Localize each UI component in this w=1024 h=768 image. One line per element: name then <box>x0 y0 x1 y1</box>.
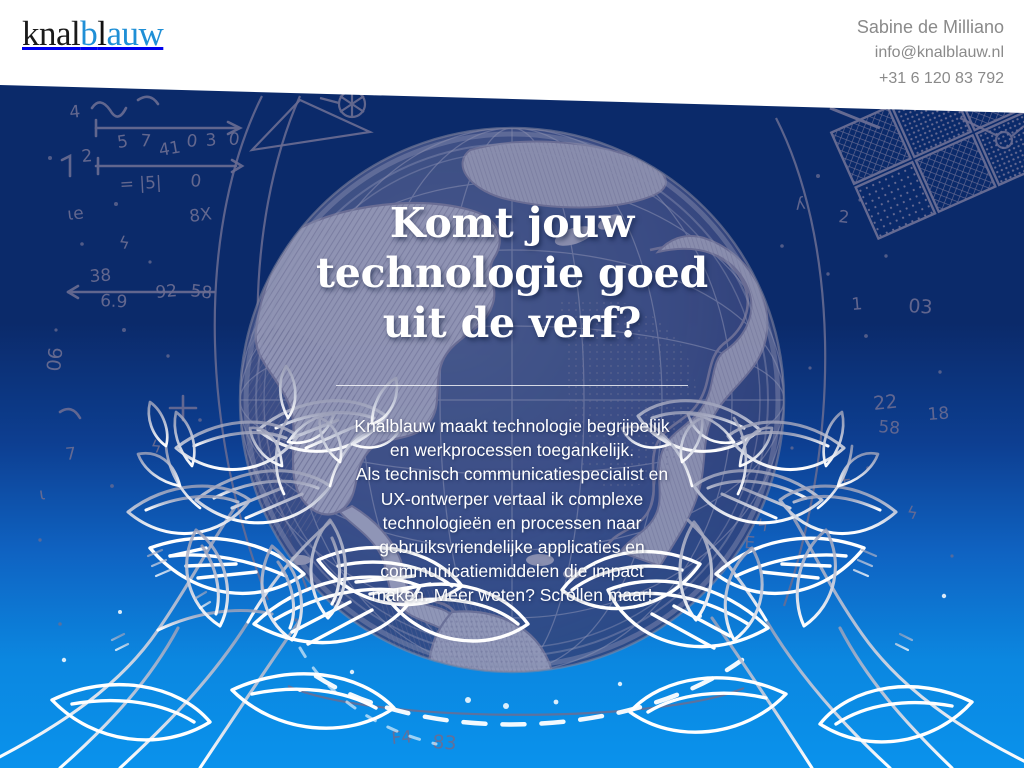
svg-text:5: 5 <box>116 132 130 153</box>
svg-text:6.9: 6.9 <box>100 291 128 312</box>
svg-text:7: 7 <box>64 444 77 465</box>
logo-text-knal: knal <box>22 14 80 53</box>
svg-text:0: 0 <box>185 131 198 152</box>
svg-text:ιe: ιe <box>66 203 84 225</box>
svg-text:ϟ: ϟ <box>117 233 130 254</box>
globe-illustration <box>240 128 784 768</box>
svg-text:92: 92 <box>155 281 178 303</box>
svg-text:ϟ: ϟ <box>905 503 919 524</box>
svg-text:38: 38 <box>89 266 112 287</box>
contact-name: Sabine de Milliano <box>857 14 1004 40</box>
svg-text:2: 2 <box>837 207 850 228</box>
svg-text:2: 2 <box>81 146 94 167</box>
svg-text:41: 41 <box>157 137 182 160</box>
contact-phone[interactable]: +31 6 120 83 792 <box>857 66 1004 92</box>
svg-text:4: 4 <box>68 102 81 123</box>
contact-email[interactable]: info@knalblauw.nl <box>857 40 1004 66</box>
site-logo[interactable]: knalblauw <box>22 16 163 51</box>
svg-text:03: 03 <box>908 295 934 319</box>
logo-text-auw: auw <box>107 14 164 53</box>
page-root: 4 5 7 41 0 3 0 2 = |5| 0 ιe ϟ 8Χ 38 6.9 … <box>0 0 1024 768</box>
svg-text:58: 58 <box>878 417 901 439</box>
svg-text:7: 7 <box>140 131 152 152</box>
svg-text:18: 18 <box>927 404 950 425</box>
svg-text:3: 3 <box>205 130 217 151</box>
svg-text:58: 58 <box>189 281 213 303</box>
svg-text:8Χ: 8Χ <box>188 204 213 227</box>
svg-text:= |5|: = |5| <box>119 173 162 195</box>
svg-text:06: 06 <box>43 346 67 372</box>
formula-numbers-left: 4 5 7 41 0 3 0 2 = |5| 0 ιe ϟ 8Χ 38 6.9 … <box>38 102 241 505</box>
logo-exclamation-icon: l <box>97 14 106 53</box>
header-contact-info: Sabine de Milliano info@knalblauw.nl +31… <box>857 14 1004 92</box>
logo-text-b: b <box>80 14 97 53</box>
svg-text:ι: ι <box>38 484 47 505</box>
svg-text:1: 1 <box>851 294 864 315</box>
svg-text:22: 22 <box>872 391 898 415</box>
svg-text:0: 0 <box>190 171 203 192</box>
svg-text:0: 0 <box>227 129 241 150</box>
background-illustration: 4 5 7 41 0 3 0 2 = |5| 0 ιe ϟ 8Χ 38 6.9 … <box>0 0 1024 768</box>
